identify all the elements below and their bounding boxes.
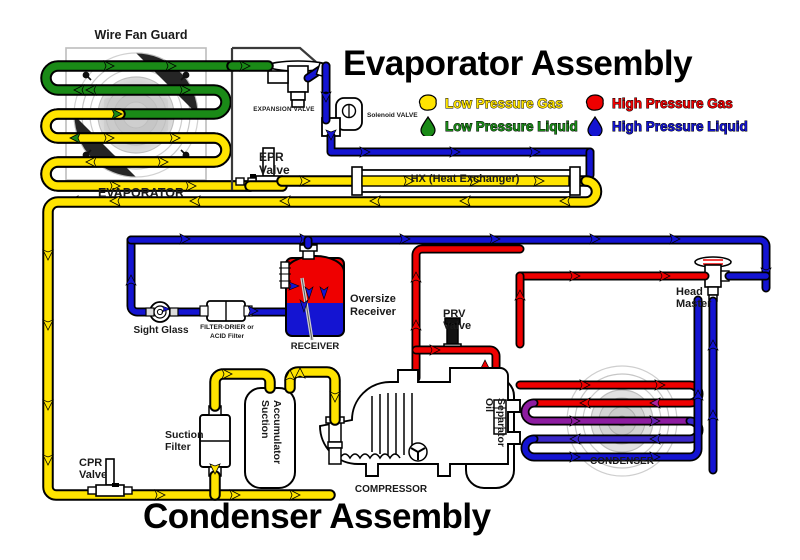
label-wire-fan-guard: Wire Fan Guard bbox=[86, 28, 196, 42]
refrigeration-schematic bbox=[0, 0, 800, 560]
hpl-headmaster-down bbox=[713, 276, 766, 470]
label-filter-drier-line1: FILTER-DRIER or bbox=[190, 324, 264, 331]
label-suction-accumulator-line1: Suction bbox=[258, 400, 270, 439]
legend-item-high-pressure-gas: High Pressure Gas bbox=[585, 94, 733, 112]
label-oversize-receiver-line2: Receiver bbox=[350, 306, 396, 318]
legend-label: High Pressure Liquid bbox=[612, 119, 748, 134]
legend-item-high-pressure-liquid: High Pressure Liquid bbox=[585, 116, 748, 136]
label-cpr-valve-line1: CPR bbox=[79, 457, 102, 469]
label-compressor: COMPRESSOR bbox=[343, 484, 439, 495]
compressor bbox=[320, 368, 520, 476]
label-oversize-receiver-line1: Oversize bbox=[350, 293, 396, 305]
label-suction-filter-line1: Suction bbox=[165, 430, 204, 442]
legend-item-low-pressure-gas: Low Pressure Gas bbox=[418, 94, 563, 112]
diagram-canvas: Evaporator Assembly Condenser Assembly L… bbox=[0, 0, 800, 560]
label-prv-valve-line1: PRV bbox=[443, 308, 465, 320]
legend-label: Low Pressure Liquid bbox=[445, 119, 578, 134]
label-prv-valve-line2: Valve bbox=[443, 320, 471, 332]
page-title-condenser: Condenser Assembly bbox=[143, 497, 491, 537]
page-title-evaporator: Evaporator Assembly bbox=[343, 44, 692, 84]
legend-item-low-pressure-liquid: Low Pressure Liquid bbox=[418, 116, 578, 136]
label-oil-separator-line1: Oil bbox=[482, 398, 494, 412]
receiver bbox=[279, 245, 344, 340]
label-suction-filter-line2: Filter bbox=[165, 442, 191, 454]
label-filter-drier-line2: ACID Filter bbox=[190, 333, 264, 340]
label-suction-accumulator-line2: Accumulator bbox=[270, 400, 282, 464]
label-expansion-valve: EXPANSION VALVE bbox=[248, 106, 320, 113]
label-evaporator: EVAPORATOR bbox=[86, 186, 196, 200]
liquid-drop-icon bbox=[585, 116, 605, 136]
gas-blob-icon bbox=[418, 94, 438, 112]
liquid-drop-icon bbox=[418, 116, 438, 136]
filter-drier bbox=[200, 301, 252, 321]
label-head-master-line1: Head bbox=[676, 286, 703, 298]
label-solenoid-valve: Solenoid VALVE bbox=[367, 112, 418, 119]
gas-blob-icon bbox=[585, 94, 605, 112]
label-head-master-line2: Master bbox=[676, 298, 711, 310]
label-receiver: RECEIVER bbox=[280, 342, 350, 353]
label-cpr-valve-line2: Valve bbox=[79, 469, 107, 481]
label-sight-glass: Sight Glass bbox=[122, 325, 200, 336]
discharge-line bbox=[416, 249, 520, 378]
label-oil-separator-line2: Separator bbox=[494, 398, 506, 447]
legend-label: Low Pressure Gas bbox=[445, 96, 563, 111]
label-epr-valve-line2: Valve bbox=[259, 164, 290, 177]
label-heat-exchanger: HX (Heat Exchanger) bbox=[390, 173, 540, 185]
sight-glass bbox=[146, 302, 178, 322]
suction-filter bbox=[200, 406, 230, 476]
label-condenser: CONDENSER bbox=[582, 456, 662, 467]
legend-label: High Pressure Gas bbox=[612, 96, 733, 111]
